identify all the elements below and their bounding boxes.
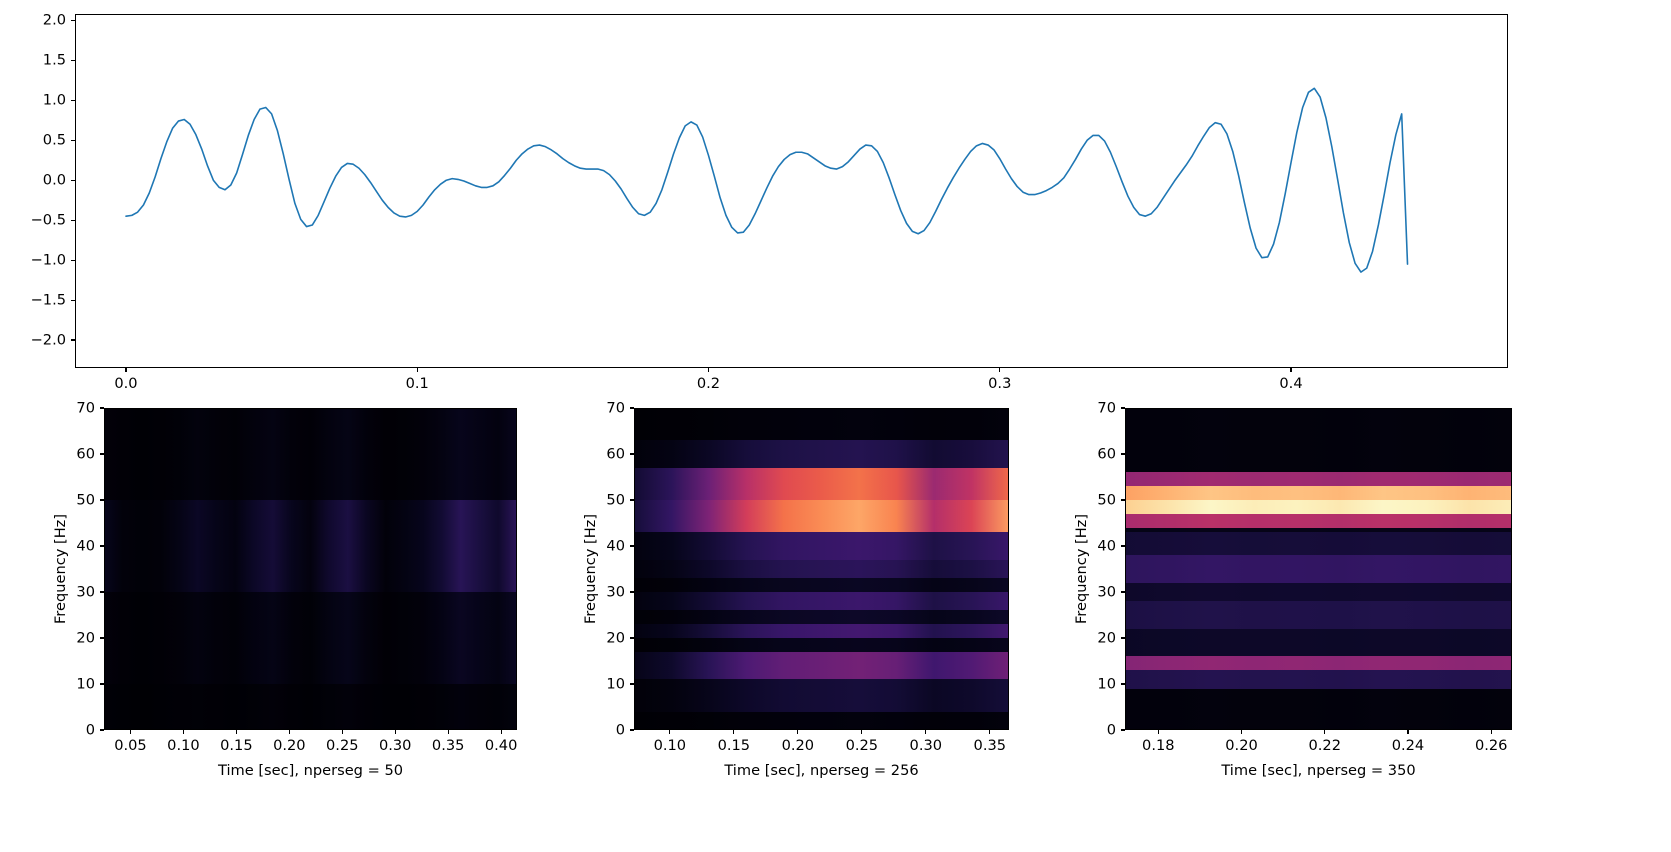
x-tick (342, 730, 343, 734)
y-tick (1121, 499, 1125, 500)
spectrogram-frequency-band (634, 610, 1009, 624)
x-tick-label: 0.40 (485, 737, 518, 754)
y-tick (630, 591, 634, 592)
y-tick-label: 0 (86, 722, 95, 739)
y-tick (630, 545, 634, 546)
x-tick-label: 0.2 (697, 375, 720, 392)
x-tick-label: 0.05 (114, 737, 147, 754)
spectrogram-image-nperseg-50 (104, 408, 517, 730)
x-tick (925, 730, 926, 734)
y-tick (630, 453, 634, 454)
spectrogram-frequency-band (104, 500, 517, 592)
signal-waveform-path (126, 88, 1408, 272)
spectrogram-xlabel-nperseg-350: Time [sec], nperseg = 350 (1221, 762, 1415, 779)
x-tick (989, 730, 990, 734)
y-tick-label: −1.0 (31, 252, 66, 269)
y-tick-label: 10 (76, 676, 95, 693)
x-tick-label: 0.35 (974, 737, 1007, 754)
x-tick-label: 0.3 (988, 375, 1011, 392)
x-tick (669, 730, 670, 734)
spectrogram-frequency-band (104, 592, 517, 684)
y-tick (1121, 683, 1125, 684)
y-tick (1121, 637, 1125, 638)
x-tick-label: 0.30 (379, 737, 412, 754)
y-tick (1121, 591, 1125, 592)
x-tick (797, 730, 798, 734)
y-tick-label: 0.0 (43, 172, 66, 189)
y-tick-label: 30 (606, 584, 625, 601)
y-tick-label: 0 (1107, 722, 1116, 739)
spectrogram-frequency-band (634, 712, 1009, 730)
signal-plot-area (75, 14, 1508, 368)
x-tick-label: 0.10 (654, 737, 687, 754)
spectrogram-frequency-band (1125, 514, 1512, 528)
x-tick-label: 0.20 (273, 737, 306, 754)
signal-line-svg (75, 14, 1508, 368)
x-tick (1407, 730, 1408, 734)
spectrogram-frequency-band (1125, 656, 1512, 670)
spectrogram-frequency-band (634, 679, 1009, 711)
y-tick-label: 30 (1097, 584, 1116, 601)
x-tick-label: 0.22 (1308, 737, 1341, 754)
spectrogram-frequency-band (634, 624, 1009, 638)
y-tick-label: 60 (606, 446, 625, 463)
y-tick (630, 407, 634, 408)
spectrogram-frequency-band (1125, 500, 1512, 514)
y-tick (630, 729, 634, 730)
y-tick-label: −1.5 (31, 292, 66, 309)
y-tick (100, 545, 104, 546)
x-tick (999, 368, 1000, 372)
y-tick-label: 10 (1097, 676, 1116, 693)
y-tick-label: 20 (1097, 630, 1116, 647)
y-tick-label: 50 (606, 492, 625, 509)
y-tick (71, 339, 75, 340)
y-tick (100, 637, 104, 638)
x-tick-label: 0.25 (846, 737, 879, 754)
signal-axes: −2.0−1.5−1.0−0.50.00.51.01.52.0 0.00.10.… (75, 14, 1508, 368)
x-tick-label: 0.30 (910, 737, 943, 754)
spectrogram-frequency-band (634, 440, 1009, 468)
spectrogram-frequency-band (634, 578, 1009, 592)
spectrogram-frequency-band (1125, 472, 1512, 486)
x-tick (130, 730, 131, 734)
spectrogram-frequency-band (634, 592, 1009, 610)
x-tick-label: 0.15 (220, 737, 253, 754)
y-tick-label: 2.0 (43, 12, 66, 29)
y-tick (1121, 729, 1125, 730)
x-tick (1290, 368, 1291, 372)
x-tick (1241, 730, 1242, 734)
y-tick (1121, 545, 1125, 546)
spectrogram-frequency-band (104, 408, 517, 500)
x-tick (1158, 730, 1159, 734)
y-tick-label: 40 (606, 538, 625, 555)
y-tick-label: 0.5 (43, 132, 66, 149)
spectrogram-axes-nperseg-350: 0102030405060700.180.200.220.240.26 Freq… (1125, 408, 1512, 730)
spectrogram-image-nperseg-350 (1125, 408, 1512, 730)
y-tick-label: 20 (76, 630, 95, 647)
spectrogram-frequency-band (634, 560, 1009, 578)
spectrogram-frequency-band (634, 500, 1009, 532)
y-tick (100, 407, 104, 408)
y-tick-label: 10 (606, 676, 625, 693)
y-tick (630, 499, 634, 500)
x-tick (1491, 730, 1492, 734)
spectrogram-frequency-band (634, 652, 1009, 680)
y-tick-label: 70 (606, 400, 625, 417)
x-tick-label: 0.10 (167, 737, 200, 754)
spectrogram-frequency-band (1125, 670, 1512, 688)
x-tick (1324, 730, 1325, 734)
y-tick (71, 260, 75, 261)
x-tick (861, 730, 862, 734)
y-tick (100, 453, 104, 454)
y-tick-label: 50 (1097, 492, 1116, 509)
x-tick (236, 730, 237, 734)
x-tick-label: 0.25 (326, 737, 359, 754)
y-tick (100, 683, 104, 684)
spectrogram-axes-nperseg-256: 0102030405060700.100.150.200.250.300.35 … (634, 408, 1009, 730)
x-tick-label: 0.20 (782, 737, 815, 754)
x-tick-label: 0.1 (406, 375, 429, 392)
x-tick-label: 0.15 (718, 737, 751, 754)
x-tick (395, 730, 396, 734)
y-tick (1121, 453, 1125, 454)
spectrogram-frequency-band (634, 532, 1009, 560)
y-tick-label: 50 (76, 492, 95, 509)
x-tick (289, 730, 290, 734)
y-tick (71, 60, 75, 61)
spectrogram-frequency-band (104, 684, 517, 730)
y-tick (71, 220, 75, 221)
x-tick-label: 0.35 (432, 737, 465, 754)
spectrogram-frequency-band (1125, 555, 1512, 583)
x-tick-label: 0.24 (1392, 737, 1425, 754)
y-tick (100, 591, 104, 592)
spectrogram-frequency-band (1125, 408, 1512, 472)
spectrogram-xlabel-nperseg-50: Time [sec], nperseg = 50 (218, 762, 403, 779)
x-tick (183, 730, 184, 734)
y-tick (100, 729, 104, 730)
spectrogram-image-nperseg-256 (634, 408, 1009, 730)
y-tick-label: 40 (76, 538, 95, 555)
spectrogram-frequency-band (634, 468, 1009, 500)
spectrogram-frequency-band (1125, 532, 1512, 555)
x-tick (417, 368, 418, 372)
x-tick-label: 0.0 (114, 375, 137, 392)
spectrogram-frequency-band (1125, 689, 1512, 730)
y-tick-label: 0 (616, 722, 625, 739)
spectrogram-frequency-band (1125, 601, 1512, 629)
y-tick (630, 683, 634, 684)
y-tick (630, 637, 634, 638)
y-tick (100, 499, 104, 500)
spectrogram-frequency-band (634, 638, 1009, 652)
spectrogram-xlabel-nperseg-256: Time [sec], nperseg = 256 (724, 762, 918, 779)
x-tick-label: 0.4 (1279, 375, 1302, 392)
x-tick (708, 368, 709, 372)
spectrogram-frequency-band (1125, 486, 1512, 500)
x-tick-label: 0.18 (1142, 737, 1175, 754)
y-tick-label: 30 (76, 584, 95, 601)
y-tick (71, 300, 75, 301)
spectrogram-ylabel-nperseg-350: Frequency [Hz] (1073, 514, 1090, 624)
y-tick-label: 60 (1097, 446, 1116, 463)
y-tick (71, 100, 75, 101)
spectrogram-frequency-band (1125, 528, 1512, 533)
spectrogram-frequency-band (634, 408, 1009, 440)
y-tick-label: 1.0 (43, 92, 66, 109)
y-tick-label: 40 (1097, 538, 1116, 555)
y-tick (1121, 407, 1125, 408)
y-tick-label: 60 (76, 446, 95, 463)
x-tick (501, 730, 502, 734)
x-tick (125, 368, 126, 372)
spectrogram-axes-nperseg-50: 0102030405060700.050.100.150.200.250.300… (104, 408, 517, 730)
y-tick (71, 180, 75, 181)
y-tick-label: −0.5 (31, 212, 66, 229)
y-tick-label: 70 (1097, 400, 1116, 417)
x-tick (733, 730, 734, 734)
x-tick-label: 0.20 (1225, 737, 1258, 754)
spectrogram-ylabel-nperseg-256: Frequency [Hz] (582, 514, 599, 624)
y-tick (71, 20, 75, 21)
spectrogram-frequency-band (1125, 629, 1512, 657)
y-tick-label: −2.0 (31, 332, 66, 349)
matplotlib-figure: −2.0−1.5−1.0−0.50.00.51.01.52.0 0.00.10.… (0, 0, 1671, 852)
y-tick-label: 20 (606, 630, 625, 647)
spectrogram-ylabel-nperseg-50: Frequency [Hz] (52, 514, 69, 624)
y-tick (71, 140, 75, 141)
x-tick-label: 0.26 (1475, 737, 1508, 754)
y-tick-label: 1.5 (43, 52, 66, 69)
y-tick-label: 70 (76, 400, 95, 417)
spectrogram-frequency-band (1125, 583, 1512, 601)
x-tick (448, 730, 449, 734)
